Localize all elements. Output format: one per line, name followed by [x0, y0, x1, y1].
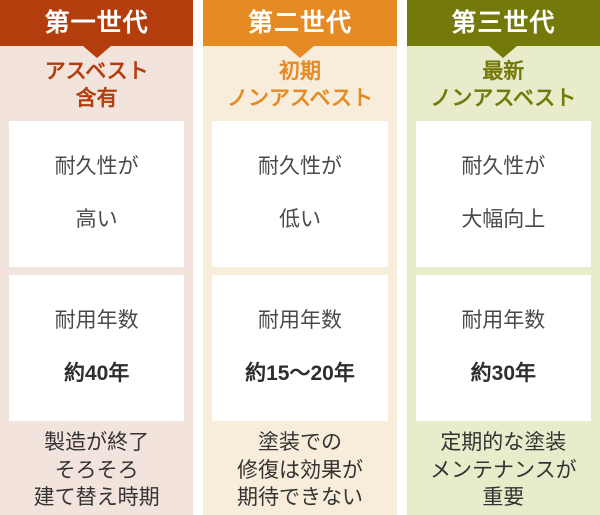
generation-1-lifespan-value: 約40年 [9, 361, 184, 387]
generation-2-durability-label: 耐久性が [212, 154, 387, 180]
generation-3-header: 第三世代 [407, 0, 600, 46]
generation-comparison-table: 第一世代 アスベスト 含有 耐久性が 高い 耐用年数 約40年 製造が終了 そろ… [0, 0, 600, 400]
generation-3-lifespan-box: 耐用年数 約30年 [416, 275, 591, 421]
generation-2-durability-box: 耐久性が 低い [212, 121, 387, 267]
generation-2-lifespan-value: 約15〜20年 [212, 361, 387, 387]
generation-2-header-label: 第二世代 [248, 11, 352, 36]
generation-1-body: アスベスト 含有 耐久性が 高い 耐用年数 約40年 製造が終了 そろそろ 建て… [0, 46, 193, 515]
generation-column-2: 第二世代 初期 ノンアスベスト 耐久性が 低い 耐用年数 約15〜20年 塗装で… [203, 0, 396, 400]
generation-2-note: 塗装での 修復は効果が 期待できない [212, 429, 387, 515]
triangle-pointer-icon [286, 46, 314, 58]
generation-1-header-label: 第一世代 [45, 11, 149, 36]
generation-column-1: 第一世代 アスベスト 含有 耐久性が 高い 耐用年数 約40年 製造が終了 そろ… [0, 0, 193, 400]
generation-1-durability-value: 高い [9, 207, 184, 233]
generation-column-3: 第三世代 最新 ノンアスベスト 耐久性が 大幅向上 耐用年数 約30年 定期的な… [407, 0, 600, 400]
generation-3-lifespan-value: 約30年 [416, 361, 591, 387]
triangle-pointer-icon [83, 46, 111, 58]
generation-1-durability-label: 耐久性が [9, 154, 184, 180]
generation-3-durability-box: 耐久性が 大幅向上 [416, 121, 591, 267]
generation-2-durability-value: 低い [212, 207, 387, 233]
generation-3-durability-value: 大幅向上 [416, 207, 591, 233]
generation-3-lifespan-label: 耐用年数 [416, 308, 591, 334]
generation-2-lifespan-box: 耐用年数 約15〜20年 [212, 275, 387, 421]
generation-1-header: 第一世代 [0, 0, 193, 46]
generation-3-header-label: 第三世代 [451, 11, 555, 36]
generation-1-note: 製造が終了 そろそろ 建て替え時期 [9, 429, 184, 515]
generation-3-note: 定期的な塗装 メンテナンスが 重要 [416, 429, 591, 515]
generation-2-lifespan-label: 耐用年数 [212, 308, 387, 334]
generation-1-lifespan-box: 耐用年数 約40年 [9, 275, 184, 421]
generation-1-durability-box: 耐久性が 高い [9, 121, 184, 267]
generation-3-durability-label: 耐久性が [416, 154, 591, 180]
generation-3-body: 最新 ノンアスベスト 耐久性が 大幅向上 耐用年数 約30年 定期的な塗装 メン… [407, 46, 600, 515]
generation-2-header: 第二世代 [203, 0, 396, 46]
triangle-pointer-icon [489, 46, 517, 58]
generation-2-body: 初期 ノンアスベスト 耐久性が 低い 耐用年数 約15〜20年 塗装での 修復は… [203, 46, 396, 515]
generation-1-lifespan-label: 耐用年数 [9, 308, 184, 334]
